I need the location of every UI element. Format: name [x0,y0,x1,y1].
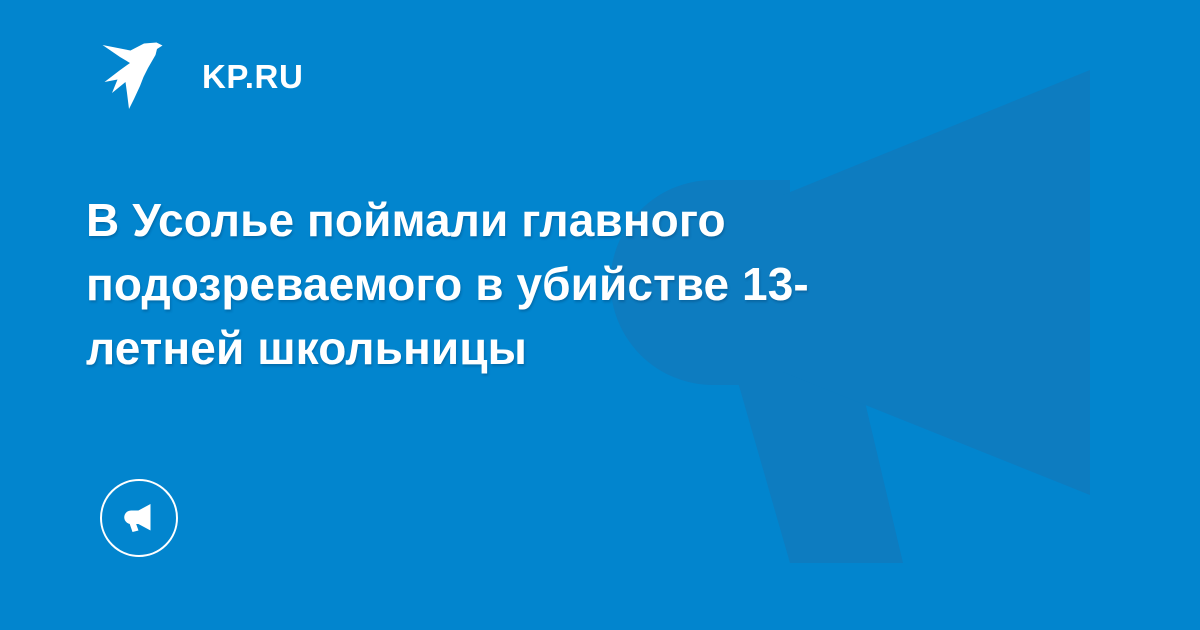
megaphone-badge[interactable] [100,479,178,557]
share-card: KP.RU В Усолье поймали главного подозрев… [0,0,1200,630]
swallow-bird-icon [100,41,174,111]
headline: В Усолье поймали главного подозреваемого… [86,188,966,380]
brand-name: KP.RU [202,60,303,93]
brand-lockup[interactable]: KP.RU [100,40,303,112]
megaphone-icon [119,498,159,538]
